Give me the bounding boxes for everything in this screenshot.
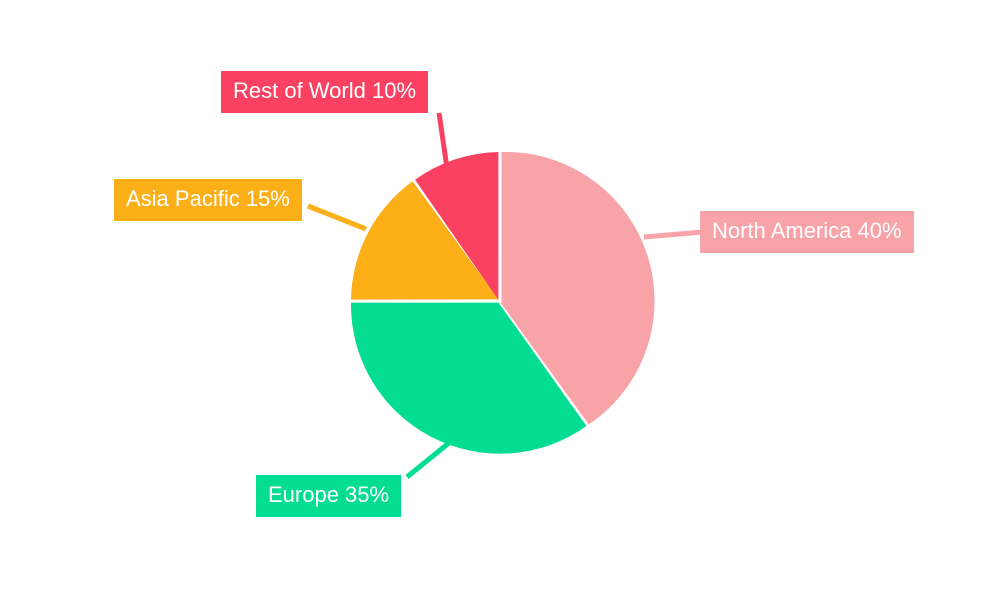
pie-label-rest-of-world: Rest of World 10% xyxy=(221,71,428,113)
pie-chart-canvas xyxy=(0,0,1000,600)
pie-chart-figure: North America 40% Europe 35% Asia Pacifi… xyxy=(0,0,1000,600)
leader-line-rest-of-world xyxy=(439,113,447,168)
pie-label-asia-pacific: Asia Pacific 15% xyxy=(114,179,302,221)
leader-line-asia-pacific xyxy=(308,206,366,229)
pie-label-north-america: North America 40% xyxy=(700,211,914,253)
pie-label-europe: Europe 35% xyxy=(256,475,401,517)
leader-line-north-america xyxy=(644,232,703,237)
